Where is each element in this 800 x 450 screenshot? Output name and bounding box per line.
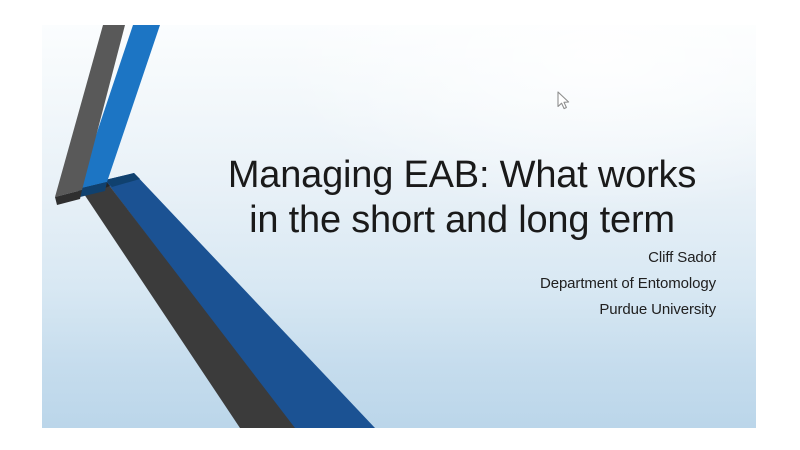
presentation-slide[interactable]: Managing EAB: What works in the short an… xyxy=(42,25,756,428)
slide-subtitle-department: Department of Entomology xyxy=(322,271,716,297)
slide-title-line-1: Managing EAB: What works xyxy=(192,153,732,198)
slide-subtitle[interactable]: Cliff Sadof Department of Entomology Pur… xyxy=(322,245,716,323)
slide-subtitle-university: Purdue University xyxy=(322,297,716,323)
slide-title-line-2: in the short and long term xyxy=(192,198,732,243)
slide-title[interactable]: Managing EAB: What works in the short an… xyxy=(192,153,732,243)
screen-viewport: Managing EAB: What works in the short an… xyxy=(0,0,800,450)
slide-subtitle-author: Cliff Sadof xyxy=(322,245,716,271)
